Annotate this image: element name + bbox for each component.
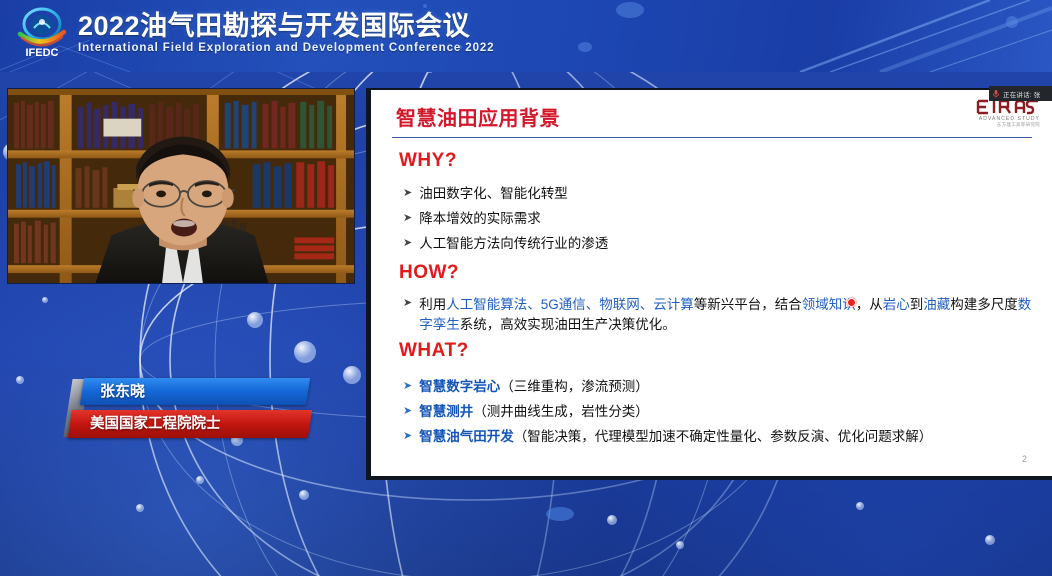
why-bullet-1: ➤ 油田数字化、智能化转型 bbox=[403, 185, 568, 203]
why-bullet-1-text: 油田数字化、智能化转型 bbox=[419, 185, 568, 203]
ifedc-globe-logo-icon: IFEDC bbox=[16, 4, 68, 60]
arrow-bullet-icon: ➤ bbox=[403, 403, 412, 420]
how-paragraph-text: 利用人工智能算法、5G通信、物联网、云计算等新兴平台，结合领域知识，从岩心到油藏… bbox=[419, 295, 1033, 335]
what-item-1-title: 智慧数字岩心 bbox=[419, 379, 500, 394]
presentation-slide: 智慧油田应用背景 ADVANCED STUDY 东方理工高等研究院 WHY? bbox=[371, 90, 1052, 476]
conference-titles: 2022油气田勘探与开发国际会议 International Field Exp… bbox=[78, 10, 494, 54]
how-paragraph-row: ➤ 利用人工智能算法、5G通信、物联网、云计算等新兴平台，结合领域知识，从岩心到… bbox=[403, 295, 1033, 335]
institution-logo: ADVANCED STUDY 东方理工高等研究院 bbox=[976, 99, 1040, 128]
conference-header-banner: IFEDC 2022油气田勘探与开发国际会议 International Fie… bbox=[0, 0, 1052, 72]
logo-wordmark: IFEDC bbox=[26, 47, 59, 59]
what-bullet-3-text: 智慧油气田开发（智能决策，代理模型加速不确定性量化、参数反演、优化问题求解） bbox=[419, 428, 932, 446]
section-heading-why: WHY? bbox=[399, 150, 457, 172]
what-bullet-1: ➤ 智慧数字岩心（三维重构，渗流预测） bbox=[403, 378, 649, 396]
institution-logo-cn: 东方理工高等研究院 bbox=[976, 122, 1040, 128]
why-bullet-3-text: 人工智能方法向传统行业的渗透 bbox=[419, 235, 608, 253]
how-part-3: 等新兴平台，结合 bbox=[694, 297, 802, 312]
section-heading-what: WHAT? bbox=[399, 340, 469, 362]
arrow-bullet-icon: ➤ bbox=[403, 295, 412, 312]
how-part-7: 到 bbox=[910, 297, 924, 312]
what-item-3-title: 智慧油气田开发 bbox=[419, 429, 514, 444]
laser-pointer-cursor bbox=[847, 298, 856, 307]
speaker-name: 张东晓 bbox=[82, 378, 308, 405]
arrow-bullet-icon: ➤ bbox=[403, 210, 412, 227]
arrow-bullet-icon: ➤ bbox=[403, 378, 412, 395]
nameplate-name-bar: 张东晓 bbox=[80, 378, 310, 405]
how-part-1: 利用 bbox=[419, 297, 446, 312]
what-bullet-2: ➤ 智慧测井（测井曲线生成，岩性分类） bbox=[403, 403, 649, 421]
what-item-3-detail: （智能决策，代理模型加速不确定性量化、参数反演、优化问题求解） bbox=[514, 429, 933, 444]
speaker-nameplate: 张东晓 美国国家工程院院士 bbox=[60, 378, 310, 440]
how-part-5: ，从 bbox=[856, 297, 883, 312]
how-part-11: 系统，高效实现油田生产决策优化。 bbox=[460, 317, 676, 332]
conference-stream-stage: IFEDC 2022油气田勘探与开发国际会议 International Fie… bbox=[0, 0, 1052, 576]
why-bullet-3: ➤ 人工智能方法向传统行业的渗透 bbox=[403, 235, 608, 253]
title-divider bbox=[392, 137, 1032, 138]
slide-page-number: 2 bbox=[1022, 454, 1027, 464]
speaking-indicator-text: 正在讲话: 张 bbox=[1003, 89, 1041, 99]
arrow-bullet-icon: ➤ bbox=[403, 428, 412, 445]
speaker-video-frame bbox=[8, 89, 354, 283]
section-heading-how: HOW? bbox=[399, 262, 459, 284]
presentation-slide-frame[interactable]: 智慧油田应用背景 ADVANCED STUDY 东方理工高等研究院 WHY? bbox=[366, 88, 1052, 480]
conference-title-en: International Field Exploration and Deve… bbox=[78, 42, 494, 54]
speaking-indicator-badge: 正在讲话: 张 bbox=[989, 86, 1052, 101]
speaker-video-tile[interactable] bbox=[7, 88, 355, 284]
how-part-2-blue: 人工智能算法、5G通信、物联网、云计算 bbox=[446, 297, 694, 312]
microphone-icon bbox=[992, 89, 1000, 98]
how-part-8-blue: 油藏 bbox=[923, 297, 950, 312]
conference-title-cn: 2022油气田勘探与开发国际会议 bbox=[78, 12, 494, 40]
what-bullet-3: ➤ 智慧油气田开发（智能决策，代理模型加速不确定性量化、参数反演、优化问题求解） bbox=[403, 428, 932, 446]
arrow-bullet-icon: ➤ bbox=[403, 235, 412, 252]
why-bullet-2: ➤ 降本增效的实际需求 bbox=[403, 210, 541, 228]
speaker-role: 美国国家工程院院士 bbox=[70, 410, 310, 438]
what-bullet-2-text: 智慧测井（测井曲线生成，岩性分类） bbox=[419, 403, 649, 421]
what-bullet-1-text: 智慧数字岩心（三维重构，渗流预测） bbox=[419, 378, 649, 396]
why-bullet-2-text: 降本增效的实际需求 bbox=[419, 210, 541, 228]
how-part-9: 构建多尺度 bbox=[950, 297, 1018, 312]
slide-title: 智慧油田应用背景 bbox=[396, 102, 560, 131]
how-part-6-blue: 岩心 bbox=[883, 297, 910, 312]
what-item-2-title: 智慧测井 bbox=[419, 404, 473, 419]
what-item-1-detail: （三维重构，渗流预测） bbox=[500, 379, 649, 394]
arrow-bullet-icon: ➤ bbox=[403, 185, 412, 202]
eias-logo-icon bbox=[976, 99, 1040, 115]
what-item-2-detail: （测井曲线生成，岩性分类） bbox=[473, 404, 649, 419]
nameplate-role-bar: 美国国家工程院院士 bbox=[68, 410, 312, 438]
